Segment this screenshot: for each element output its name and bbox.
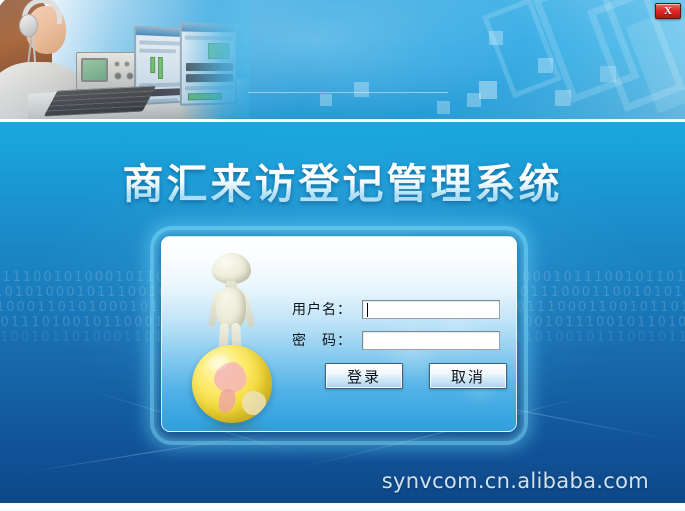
button-row: 登录 取消 (325, 363, 508, 389)
binary-text: 101110001100101101 (506, 300, 685, 315)
continent-south-america (217, 388, 238, 415)
globe-icon (192, 345, 272, 423)
binary-text: 011100011001010111 (520, 285, 685, 300)
decor-square (437, 101, 450, 114)
login-panel: 用户名： 密 码： 登录 取消 (161, 236, 517, 432)
main-area: 0111001010001011010 1101010001011100101 … (0, 122, 685, 511)
decor-square (354, 82, 369, 97)
page-title: 商汇来访登记管理系统 (0, 150, 685, 210)
username-label: 用户名： (292, 299, 362, 319)
text-caret (367, 303, 368, 317)
decor-square (479, 81, 497, 99)
password-input[interactable] (362, 331, 500, 350)
mascot-shadow (198, 421, 270, 432)
mascot-torso (216, 287, 246, 329)
close-icon: X (664, 6, 672, 17)
decor-line (248, 92, 448, 93)
header-banner: X (0, 0, 685, 122)
binary-text: 110100101110010110 (514, 330, 685, 345)
mascot-head (212, 253, 251, 284)
mascot-illustration (184, 253, 280, 423)
continent-africa (242, 391, 266, 415)
binary-text: 001011100101101001 (524, 315, 685, 330)
bottom-strip (0, 503, 685, 511)
username-input[interactable] (362, 300, 500, 319)
login-screen: X 0111001010001011010 110101000101110010… (0, 0, 685, 511)
password-label: 密 码： (292, 330, 362, 350)
decor-square (467, 93, 481, 107)
binary-text: 0101110100101100011 (0, 315, 175, 330)
cancel-button[interactable]: 取消 (429, 363, 507, 389)
decor-square (320, 94, 332, 106)
login-button[interactable]: 登录 (325, 363, 403, 389)
username-row: 用户名： (292, 299, 508, 319)
password-row: 密 码： (292, 330, 508, 350)
watermark-text: synvcom.cn.alibaba.com (382, 469, 649, 493)
login-form: 用户名： 密 码： 登录 取消 (292, 299, 508, 389)
close-button[interactable]: X (655, 3, 681, 19)
binary-text: 100010111001011010 (512, 270, 685, 285)
